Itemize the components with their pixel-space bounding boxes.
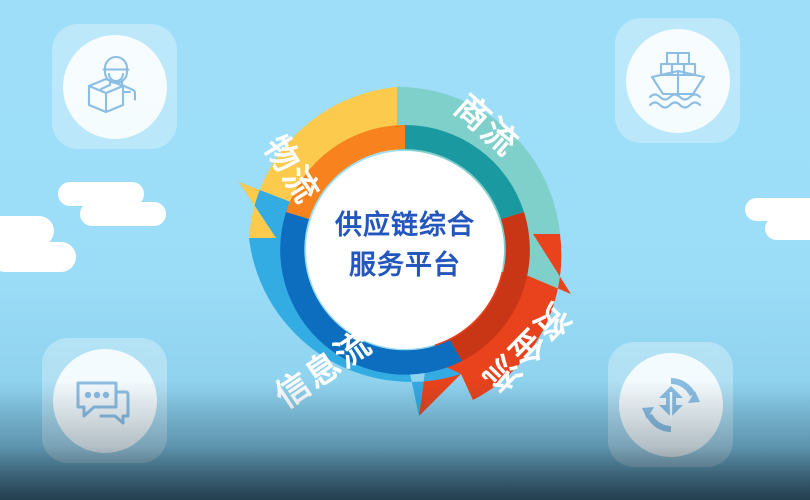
icon-card-finance[interactable] <box>608 342 733 467</box>
delivery-person-package-icon <box>76 48 154 126</box>
icon-card-delivery[interactable] <box>52 24 177 149</box>
icon-card-shipping[interactable] <box>615 18 740 143</box>
icon-card-communication[interactable] <box>42 338 167 463</box>
supply-chain-infographic: 商流 资金流 信息流 物流 供应链综合 服务平台 <box>0 0 810 500</box>
icon-disc <box>626 29 730 133</box>
center-title-line1: 供应链综合 <box>313 206 497 246</box>
center-title-line2: 服务平台 <box>313 246 497 286</box>
icon-disc <box>53 349 157 453</box>
chat-bubbles-icon <box>66 362 144 440</box>
icon-disc <box>619 353 723 457</box>
container-ship-icon <box>639 42 717 120</box>
dollar-cycle-icon <box>632 366 710 444</box>
center-title: 供应链综合 服务平台 <box>313 206 497 286</box>
icon-disc <box>63 35 167 139</box>
